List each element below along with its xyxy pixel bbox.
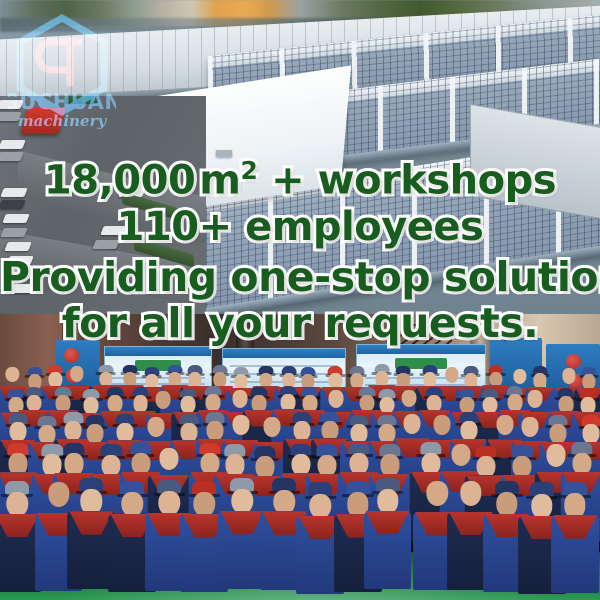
staff-face: [328, 390, 343, 408]
aerial-factory-photo: GUCHUAN machinery: [0, 0, 600, 314]
staff-face: [233, 415, 250, 435]
uniform-red-accent: [220, 511, 264, 534]
parked-car: [0, 188, 28, 197]
parked-car: [10, 284, 38, 293]
staff-face: [433, 415, 450, 435]
staff-face: [160, 448, 179, 470]
staff-face: [148, 417, 165, 437]
uniform-jacket: [551, 515, 599, 593]
uniform-red-accent: [69, 511, 113, 534]
staff-face: [6, 367, 19, 383]
parked-car: [0, 200, 26, 209]
roof-hvac-unit: [216, 150, 232, 157]
logo-wordmark: GUCHUAN: [8, 90, 116, 114]
staff-face: [404, 414, 421, 434]
staff-face: [528, 390, 543, 408]
uniform-red-accent: [553, 515, 597, 538]
parked-car: [8, 270, 36, 279]
uniform-red-accent: [365, 511, 409, 534]
staff-face: [156, 391, 171, 409]
uniform-red-accent: [0, 514, 39, 537]
parked-car: [0, 228, 28, 237]
parked-car: [4, 242, 32, 251]
banner-canvas: GUCHUAN machinery: [0, 0, 600, 600]
staff-crowd: [0, 314, 600, 600]
staff-face: [48, 482, 69, 507]
staff-face: [264, 417, 281, 437]
parked-car: [92, 240, 120, 249]
guchuan-machinery-logo: GUCHUAN machinery: [8, 12, 116, 132]
logo-tagline: machinery: [18, 112, 108, 130]
staff-face: [522, 417, 539, 437]
staff-member: [218, 478, 266, 589]
uniform-jacket: [364, 511, 412, 589]
staff-member: [364, 478, 412, 589]
uniform-jacket: [218, 511, 266, 589]
staff-face: [460, 481, 481, 506]
staff-face: [70, 366, 83, 382]
staff-face: [426, 481, 447, 506]
parked-car: [100, 226, 128, 235]
parked-car: [2, 214, 30, 223]
staff-member: [551, 482, 599, 593]
parked-car: [0, 152, 24, 161]
company-group-photo: 古 川: [0, 314, 600, 600]
parked-car: [6, 256, 34, 265]
staff-face: [402, 390, 417, 408]
parked-car: [0, 140, 26, 149]
